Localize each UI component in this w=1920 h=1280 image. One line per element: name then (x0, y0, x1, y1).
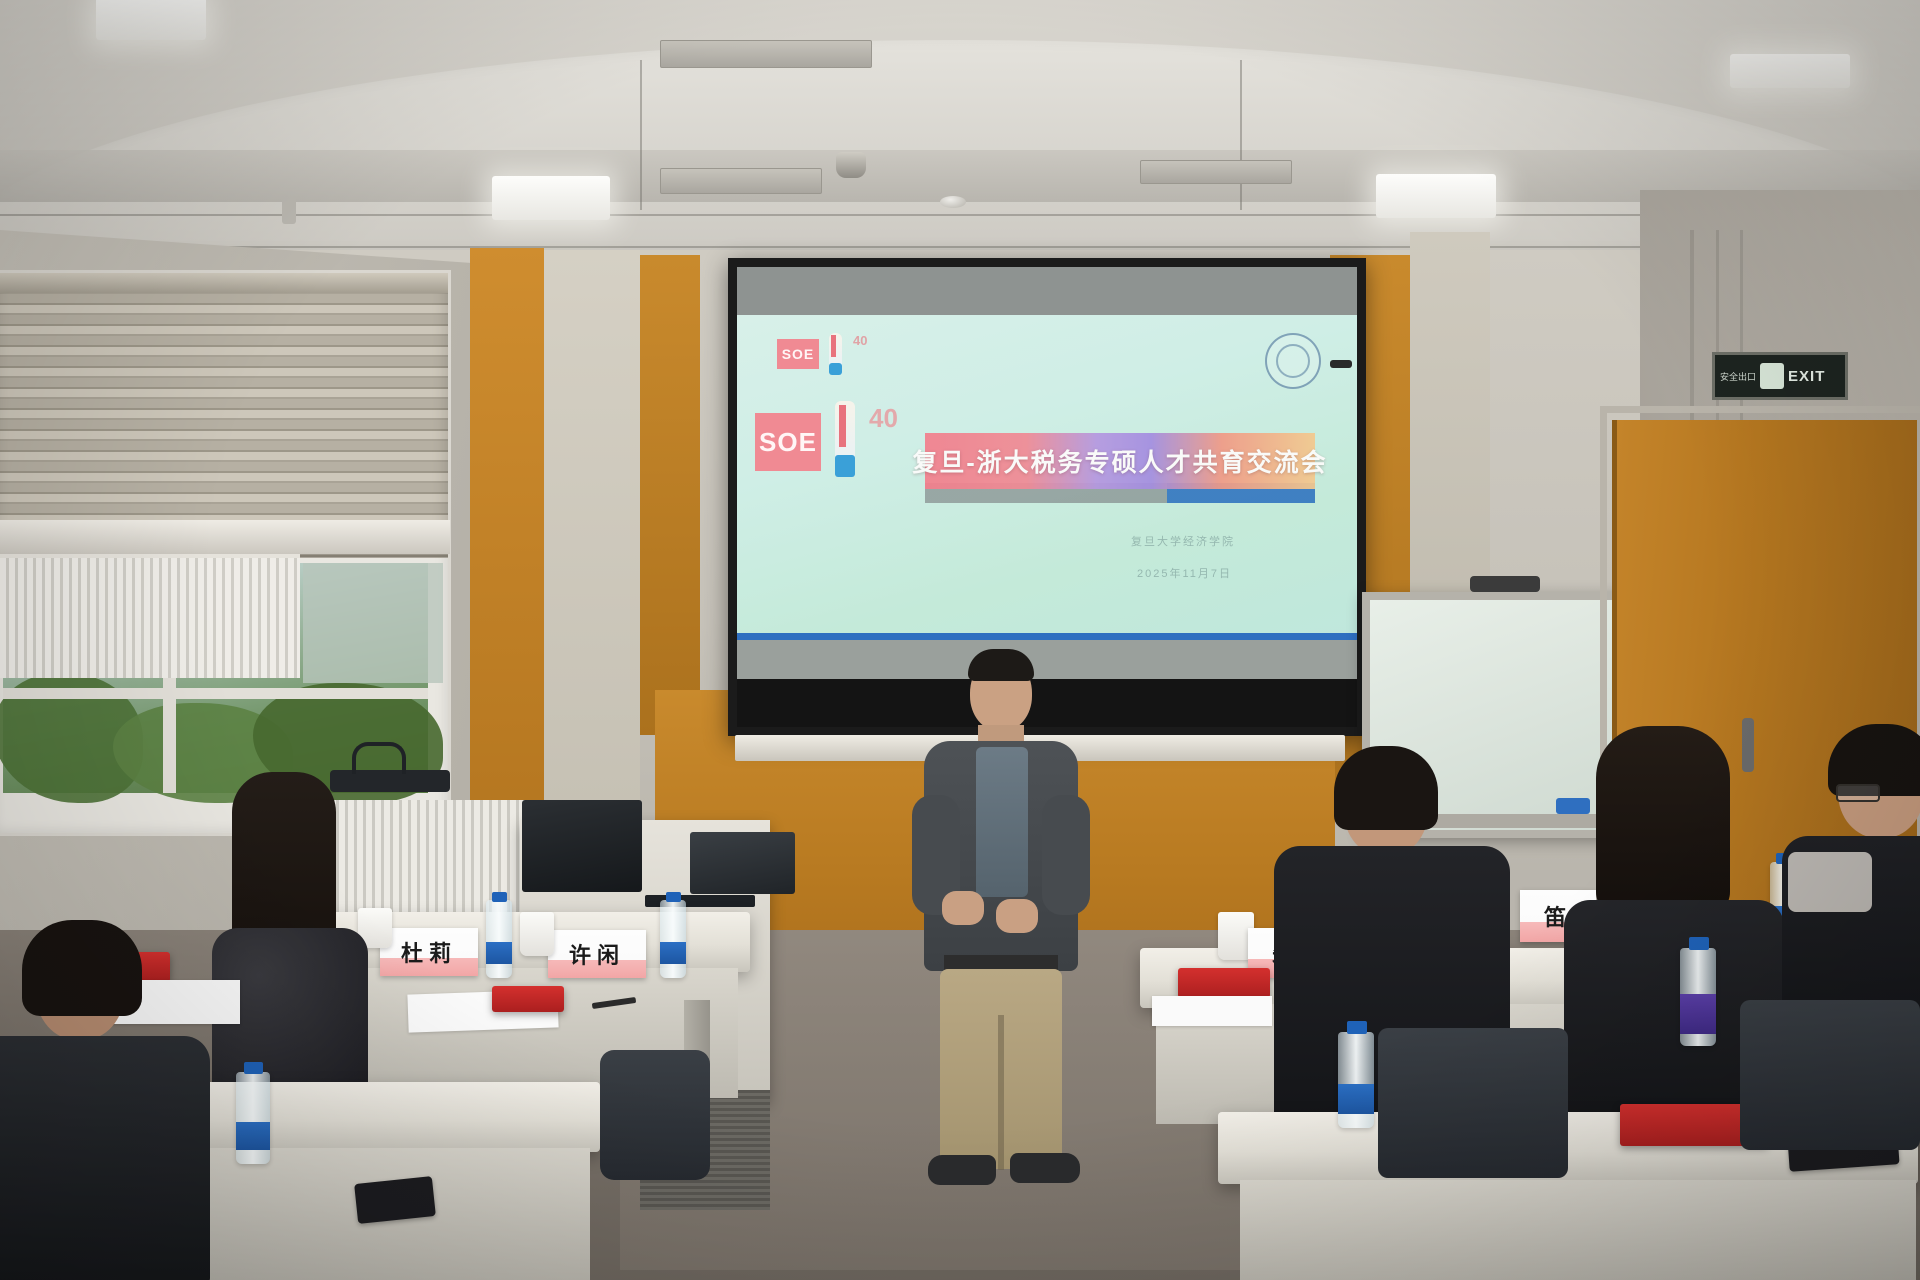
attendee-hair (1596, 726, 1730, 916)
ceiling-seam (0, 246, 1920, 248)
bottle-cap (244, 1062, 263, 1074)
ceiling-air-vent (1140, 160, 1292, 184)
anniversary-number-small: 40 (853, 333, 867, 348)
thermometer-blue-graphic (835, 455, 855, 477)
anniversary-number-large: 40 (869, 403, 898, 434)
ceiling-light-panel (96, 0, 206, 40)
speaker-person (890, 655, 1110, 1200)
smartphone (354, 1176, 436, 1224)
water-bottle (660, 900, 686, 978)
monitor-arm (352, 742, 406, 774)
name-card-text: 杜莉 (401, 936, 457, 968)
slide-accent-bar (737, 633, 1357, 640)
speaker-hair (968, 649, 1034, 681)
soe-logo-small: SOE (777, 339, 819, 369)
water-bottle (236, 1072, 270, 1164)
bottle-cap (1347, 1021, 1367, 1034)
speaker-right-arm (1042, 795, 1090, 915)
ceiling-air-vent (660, 40, 872, 68)
presentation-slide: SOE 40 SOE 40 复旦-浙大税务专硕人才共育交流会 复旦大学经济学院 … (737, 315, 1357, 639)
chair (1740, 1000, 1920, 1150)
bottle-cap (1689, 937, 1709, 950)
bottle-label (1680, 994, 1716, 1034)
screen-top-margin (737, 267, 1357, 315)
chair (1378, 1028, 1568, 1178)
window-mullion (3, 688, 428, 699)
ceiling-speaker (836, 152, 866, 178)
bottle-cap (666, 892, 681, 902)
glasses-icon (1836, 784, 1880, 802)
beige-wall-panel (544, 250, 640, 880)
speaker-right-shoe (1010, 1153, 1080, 1183)
slide-title: 复旦-浙大税务专硕人才共育交流会 (912, 443, 1327, 479)
thermometer-blue-graphic (829, 363, 842, 375)
window-sill (0, 520, 450, 554)
water-bottle (486, 900, 512, 978)
ceiling-seam (640, 60, 642, 210)
window-blinds (0, 273, 448, 558)
smoke-detector-icon (940, 196, 966, 208)
slide-date: 2025年11月7日 (1137, 565, 1232, 581)
desk-front-panel (1240, 1180, 1916, 1280)
radiator (0, 554, 300, 678)
chair (600, 1050, 710, 1180)
paper-sheet (1152, 996, 1272, 1026)
attendee-shirt (1788, 852, 1872, 912)
attendee-hair (232, 772, 336, 952)
trouser-seam (998, 1015, 1004, 1170)
soe-logo-large: SOE (755, 413, 821, 471)
desktop-monitor (690, 832, 795, 894)
desktop-monitor (522, 800, 642, 892)
bottle-label (236, 1122, 270, 1150)
ceiling-light-panel (1730, 54, 1850, 88)
speaker-right-hand (996, 899, 1038, 933)
thermometer-red-graphic (831, 335, 836, 357)
exit-sign-chinese: 安全出口 (1720, 370, 1756, 383)
gift-box (1178, 968, 1270, 998)
attendee-person (0, 940, 220, 1280)
attendee-hair (1334, 746, 1438, 830)
wood-wall-panel (470, 248, 544, 868)
speaker-left-hand (942, 891, 984, 925)
attendee-jacket (0, 1036, 210, 1280)
fudan-university-emblem-icon (1265, 333, 1321, 389)
ceiling-air-vent (660, 168, 822, 194)
exit-sign: 安全出口 EXIT (1712, 352, 1848, 400)
classroom-photo: SOE 40 SOE 40 复旦-浙大税务专硕人才共育交流会 复旦大学经济学院 … (0, 0, 1920, 1280)
name-card-text: 许闲 (569, 938, 625, 970)
bottle-label (660, 942, 686, 964)
attendee-hair (22, 920, 142, 1016)
paper-cup (520, 912, 554, 956)
speaker-left-shoe (928, 1155, 996, 1185)
wood-wall-panel (640, 255, 700, 735)
ceiling-sprinkler (282, 198, 296, 224)
whiteboard-lamp (1470, 576, 1540, 592)
ceiling-band (0, 150, 1920, 202)
gift-box (492, 986, 564, 1012)
running-man-exit-icon (1760, 363, 1784, 389)
bottle-cap (492, 892, 507, 902)
name-card: 杜莉 (380, 928, 478, 976)
bottle-label (1338, 1084, 1374, 1114)
thermometer-red-graphic (839, 405, 846, 447)
slide-title-banner: 复旦-浙大税务专硕人才共育交流会 (925, 433, 1315, 489)
ceiling-seam (1240, 60, 1242, 210)
water-bottle (1338, 1032, 1374, 1128)
ceiling-light-panel (492, 176, 610, 220)
name-card: 许闲 (548, 930, 646, 978)
building-outside (303, 563, 443, 683)
slide-organization: 复旦大学经济学院 (1131, 533, 1235, 549)
speaker-shirt (976, 747, 1028, 897)
bottle-label (486, 942, 512, 964)
ceiling-light-panel (1376, 174, 1496, 218)
water-bottle (1680, 948, 1716, 1046)
projector-mount (1330, 360, 1352, 368)
blind-headrail (0, 273, 448, 293)
exit-sign-english: EXIT (1788, 368, 1825, 385)
